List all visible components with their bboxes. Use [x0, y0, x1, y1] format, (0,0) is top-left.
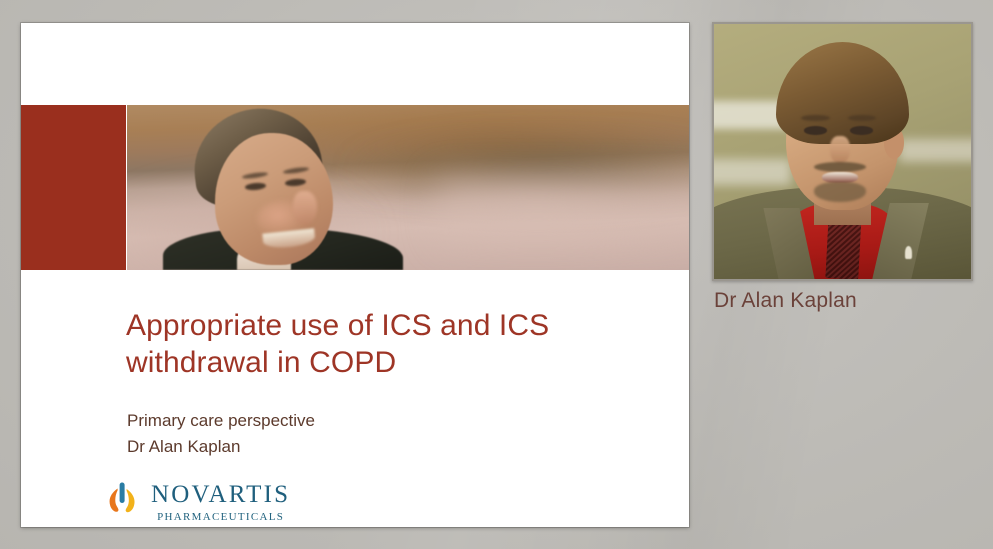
speaker-hair — [776, 42, 910, 144]
slide-banner — [21, 105, 689, 270]
video-caption: Dr Alan Kaplan — [714, 288, 857, 314]
presentation-viewer: Appropriate use of ICS and ICS withdrawa… — [0, 0, 993, 549]
novartis-tagline: PHARMACEUTICALS — [157, 510, 284, 524]
novartis-logo: NOVARTIS PHARMACEUTICALS — [105, 479, 290, 524]
video-speaker-figure — [714, 24, 971, 279]
video-frame — [714, 24, 971, 279]
banner-photo-bokeh-c — [436, 174, 689, 253]
speaker-brow-left — [801, 115, 829, 121]
speaker-eye-left — [804, 126, 827, 135]
slide-top-whitespace — [21, 23, 689, 105]
novartis-flame-icon — [105, 481, 139, 521]
slide-subtitle: Primary care perspective — [127, 408, 315, 434]
speaker-brow-right — [848, 115, 876, 121]
speaker-video-thumbnail[interactable] — [712, 22, 973, 281]
speaker-lapel-pin-icon — [905, 246, 912, 259]
novartis-name: NOVARTIS — [151, 482, 290, 508]
speaker-eye-right — [850, 126, 873, 135]
novartis-wordmark: NOVARTIS PHARMACEUTICALS — [151, 479, 290, 524]
slide-title: Appropriate use of ICS and ICS withdrawa… — [126, 307, 626, 381]
banner-accent-block — [21, 105, 126, 270]
banner-photo — [126, 105, 689, 270]
slide-presenter: Dr Alan Kaplan — [127, 434, 240, 460]
speaker-moustache — [814, 162, 865, 172]
banner-portrait — [153, 105, 413, 270]
slide-canvas[interactable]: Appropriate use of ICS and ICS withdrawa… — [21, 23, 689, 527]
